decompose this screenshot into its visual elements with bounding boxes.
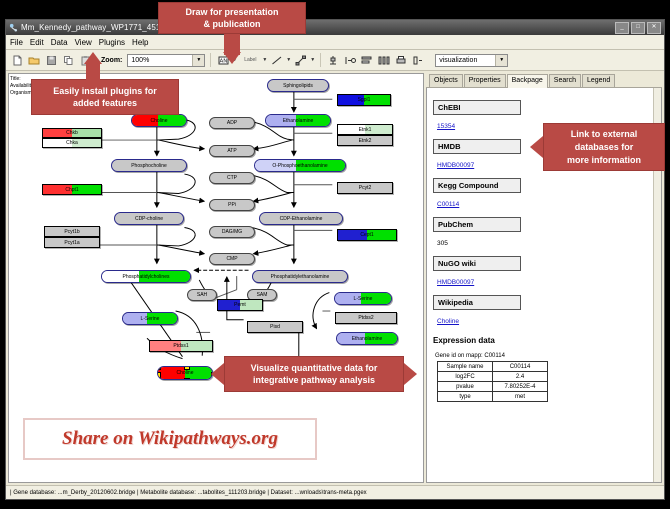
side-tabs: Objects Properties Backpage Search Legen… xyxy=(426,73,662,88)
database-value-pubchem: 305 xyxy=(437,240,448,247)
database-link-chebi[interactable]: 15354 xyxy=(437,123,455,130)
new-file-icon[interactable] xyxy=(10,53,24,67)
menu-item-file[interactable]: File xyxy=(10,38,23,47)
selection-handle[interactable] xyxy=(184,378,190,380)
pathvisio-icon xyxy=(9,23,18,32)
node-label: Etnk2 xyxy=(359,138,372,144)
callout-draw: Draw for presentation & publication xyxy=(158,2,306,34)
node-label: Sphingolipids xyxy=(283,83,313,89)
node-label: CDP-choline xyxy=(135,216,163,222)
table-cell: 7.80252E-4 xyxy=(493,382,548,392)
node-label: ADP xyxy=(227,120,237,126)
gene-node-ptdss1[interactable]: Ptdss1 xyxy=(149,340,213,352)
save-icon[interactable] xyxy=(44,53,58,67)
node-label: Phosphatidylethanolamine xyxy=(271,274,330,280)
cofactor-node-dag_mg[interactable]: DAG/MG xyxy=(209,226,255,238)
menu-item-help[interactable]: Help xyxy=(132,38,148,47)
table-cell: log2FC xyxy=(438,372,493,382)
properties-icon[interactable] xyxy=(411,53,425,67)
cofactor-node-sah[interactable]: SAH xyxy=(187,289,217,301)
table-cell: 2.4 xyxy=(493,372,548,382)
gene-node-etnk1[interactable]: Etnk1 xyxy=(337,124,393,135)
node-label: PPi xyxy=(228,202,236,208)
callout-visualize-line2: integrative pathway analysis xyxy=(253,374,375,386)
tab-search[interactable]: Search xyxy=(549,74,581,87)
metabolite-node-ethanolamine_bottom[interactable]: Ethanolamine xyxy=(336,332,398,345)
node-label: Pcyt1a xyxy=(64,240,79,246)
node-label: Choline xyxy=(177,370,194,376)
status-bar: | Gene database: ...m_Derby_20120602.bri… xyxy=(6,485,664,499)
metabolite-node-ethanolamine[interactable]: Ethanolamine xyxy=(265,114,331,127)
expression-table: Sample nameC00114log2FC2.4pvalue7.80252E… xyxy=(437,361,548,402)
metabolite-node-phosphocholine[interactable]: Phosphocholine xyxy=(111,159,187,172)
callout-draw-arrow xyxy=(223,52,241,64)
cofactor-node-ppi[interactable]: PPi xyxy=(209,199,255,211)
minimize-button[interactable]: _ xyxy=(615,22,629,34)
metabolite-node-phosphatidylethanolamine[interactable]: Phosphatidylethanolamine xyxy=(252,270,348,283)
gene-node-chpt1[interactable]: Chpt1 xyxy=(42,184,102,195)
window-controls: _ □ ✕ xyxy=(615,22,661,34)
node-label: Ptdss2 xyxy=(358,315,373,321)
zoom-value: 100% xyxy=(131,57,149,64)
database-header-nugo-wiki: NuGO wiki xyxy=(433,256,521,271)
node-label: DAG/MG xyxy=(222,229,242,235)
gene-id-line: Gene id on mapp: C00114 xyxy=(435,353,661,359)
node-label: Pcyt1b xyxy=(64,229,79,235)
toolbar: Zoom: 100% ▼ AN ▼ Label ▼ ▼ ▼ visualizat… xyxy=(6,50,664,71)
table-cell: C00114 xyxy=(493,362,548,372)
node-label: CMP xyxy=(226,256,237,262)
node-label: Chkb xyxy=(66,130,78,136)
toolbar-separator xyxy=(210,53,211,67)
metabolite-node-l_serine_right[interactable]: L-Serine xyxy=(334,292,392,305)
menu-bar: File Edit Data View Plugins Help xyxy=(6,35,664,50)
menu-item-view[interactable]: View xyxy=(75,38,92,47)
callout-plugins: Easily install plugins for added feature… xyxy=(31,79,179,115)
database-header-pubchem: PubChem xyxy=(433,217,521,232)
chevron-down-icon[interactable]: ▼ xyxy=(262,57,267,63)
node-label: Pcyt2 xyxy=(359,185,372,191)
node-label: ATP xyxy=(227,148,236,154)
callout-plugins-line2: added features xyxy=(73,97,137,109)
database-link-wikipedia[interactable]: Choline xyxy=(437,318,459,325)
cofactor-node-adp[interactable]: ADP xyxy=(209,117,255,129)
gene-node-etnk2[interactable]: Etnk2 xyxy=(337,135,393,146)
tab-backpage[interactable]: Backpage xyxy=(507,74,548,88)
chevron-down-icon[interactable]: ▼ xyxy=(286,57,291,63)
callout-draw-line1: Draw for presentation xyxy=(185,6,278,18)
metabolite-node-choline_top[interactable]: Choline xyxy=(131,114,187,127)
node-label: Ptdss1 xyxy=(173,343,188,349)
gene-node-pemt[interactable]: Pemt xyxy=(217,299,263,311)
label-icon[interactable]: Label xyxy=(240,53,260,67)
metabolite-node-phosphatidylcholines[interactable]: Phosphatidylcholines xyxy=(101,270,191,283)
tab-objects[interactable]: Objects xyxy=(429,74,463,87)
callout-visualize-arrow xyxy=(211,363,224,385)
node-label: Ethanolamine xyxy=(283,118,314,124)
share-text: Share on Wikipathways.org xyxy=(62,428,278,450)
database-link-hmdb[interactable]: HMDB00097 xyxy=(437,162,474,169)
node-label: O-Phosphoethanolamine xyxy=(272,163,327,169)
label-text: Label xyxy=(244,57,256,63)
zoom-label: Zoom: xyxy=(101,57,122,64)
cofactor-node-cmp[interactable]: CMP xyxy=(209,253,255,265)
visualization-combobox[interactable]: visualization ▼ xyxy=(435,54,508,67)
table-row: pvalue7.80252E-4 xyxy=(438,382,548,392)
database-link-kegg-compound[interactable]: C00114 xyxy=(437,201,459,208)
callout-visualize: Visualize quantitative data for integrat… xyxy=(224,356,404,392)
metabolite-node-l_serine_left[interactable]: L-Serine xyxy=(122,312,178,325)
database-link-nugo-wiki[interactable]: HMDB00097 xyxy=(437,279,474,286)
expression-data-heading: Expression data xyxy=(433,336,661,345)
metabolite-node-choline_selected[interactable]: Choline xyxy=(157,366,213,380)
metabolite-node-cdp_ethanolamine[interactable]: CDP-Ethanolamine xyxy=(259,212,343,225)
node-label: SAM xyxy=(257,292,268,298)
table-row: typemet xyxy=(438,392,548,402)
callout-links: Link to external databases for more info… xyxy=(543,123,665,171)
visualization-value: visualization xyxy=(439,57,477,64)
table-cell: met xyxy=(493,392,548,402)
node-label: Ethanolamine xyxy=(352,336,383,342)
node-label: CDP-Ethanolamine xyxy=(280,216,323,222)
node-label: Choline xyxy=(151,118,168,124)
toolbar-separator xyxy=(320,53,321,67)
open-folder-icon[interactable] xyxy=(27,53,41,67)
database-header-hmdb: HMDB xyxy=(433,139,521,154)
node-label: SAH xyxy=(197,292,207,298)
distribute-icon[interactable] xyxy=(377,53,391,67)
cofactor-node-atp[interactable]: ATP xyxy=(209,145,255,157)
node-label: Sgpl1 xyxy=(358,97,371,103)
anchor-icon[interactable] xyxy=(294,53,308,67)
callout-links-line3: more information xyxy=(567,154,641,167)
metabolite-node-cdp_choline[interactable]: CDP-choline xyxy=(114,212,184,225)
chevron-down-icon[interactable]: ▼ xyxy=(310,57,315,63)
close-button[interactable]: ✕ xyxy=(647,22,661,34)
node-label: Etnk1 xyxy=(359,127,372,133)
callout-links-line2: databases for xyxy=(575,141,634,154)
node-label: Phosphatidylcholines xyxy=(123,274,170,280)
node-label: L-Serine xyxy=(354,296,373,302)
table-cell: pvalue xyxy=(438,382,493,392)
callout-draw-line2: & publication xyxy=(204,18,261,30)
title-bar: Mm_Kennedy_pathway_WP1771_45176.gpml _ □… xyxy=(6,20,664,35)
callout-visualize-arrow-right xyxy=(404,363,417,385)
gene-node-pcyt2[interactable]: Pcyt2 xyxy=(337,182,393,194)
order-icon[interactable] xyxy=(360,53,374,67)
maximize-button[interactable]: □ xyxy=(631,22,645,34)
node-label: Chpt1 xyxy=(65,187,78,193)
cofactor-node-ctp[interactable]: CTP xyxy=(209,172,255,184)
line-icon[interactable] xyxy=(270,53,284,67)
database-header-chebi: ChEBI xyxy=(433,100,521,115)
gene-node-pisd[interactable]: Pisd xyxy=(247,321,303,333)
menu-item-plugins[interactable]: Plugins xyxy=(99,38,125,47)
chevron-down-icon[interactable]: ▼ xyxy=(495,55,507,66)
gene-node-ptdss2[interactable]: Ptdss2 xyxy=(335,312,397,324)
selection-handle[interactable] xyxy=(184,366,190,370)
callout-plugins-arrow xyxy=(84,52,102,64)
tab-properties[interactable]: Properties xyxy=(464,74,506,87)
node-label: L-Serine xyxy=(141,316,160,322)
menu-item-edit[interactable]: Edit xyxy=(30,38,44,47)
status-text: | Gene database: ...m_Derby_20120602.bri… xyxy=(10,490,367,496)
node-label: Pisd xyxy=(270,324,280,330)
gene-node-pcyt1b[interactable]: Pcyt1b xyxy=(44,226,100,237)
table-row: log2FC2.4 xyxy=(438,372,548,382)
share-banner: Share on Wikipathways.org xyxy=(23,418,317,460)
callout-links-arrow xyxy=(530,136,543,158)
zoom-combobox[interactable]: 100% ▼ xyxy=(127,54,205,67)
gene-node-cept1[interactable]: Cept1 xyxy=(337,229,397,241)
chevron-down-icon[interactable]: ▼ xyxy=(192,55,204,66)
gene-node-sgpl1[interactable]: Sgpl1 xyxy=(337,94,391,106)
selection-handle[interactable] xyxy=(157,366,161,370)
callout-links-line1: Link to external xyxy=(571,128,638,141)
node-label: Phosphocholine xyxy=(131,163,167,169)
callout-plugins-stem xyxy=(86,62,100,80)
gene-node-chka[interactable]: Chka xyxy=(42,138,102,148)
callout-plugins-line1: Easily install plugins for xyxy=(53,85,157,97)
align-icon[interactable] xyxy=(326,53,340,67)
node-label: Chka xyxy=(66,140,78,146)
menu-item-data[interactable]: Data xyxy=(51,38,68,47)
database-header-wikipedia: Wikipedia xyxy=(433,295,521,310)
node-label: Pemt xyxy=(234,302,246,308)
gene-node-pcyt1a[interactable]: Pcyt1a xyxy=(44,237,100,248)
callout-visualize-line1: Visualize quantitative data for xyxy=(251,362,378,374)
print-icon[interactable] xyxy=(394,53,408,67)
group-icon[interactable] xyxy=(343,53,357,67)
copy-icon[interactable] xyxy=(61,53,75,67)
table-row: Sample nameC00114 xyxy=(438,362,548,372)
tab-legend[interactable]: Legend xyxy=(582,74,615,87)
node-label: CTP xyxy=(227,175,237,181)
node-label: Cept1 xyxy=(360,232,373,238)
database-header-kegg-compound: Kegg Compound xyxy=(433,178,521,193)
selection-handle[interactable] xyxy=(157,378,161,380)
metabolite-node-sphingolipids[interactable]: Sphingolipids xyxy=(267,79,329,92)
gene-node-chkb[interactable]: Chkb xyxy=(42,128,102,138)
metabolite-node-o_phosphoethanolamine[interactable]: O-Phosphoethanolamine xyxy=(254,159,346,172)
table-cell: type xyxy=(438,392,493,402)
table-cell: Sample name xyxy=(438,362,493,372)
